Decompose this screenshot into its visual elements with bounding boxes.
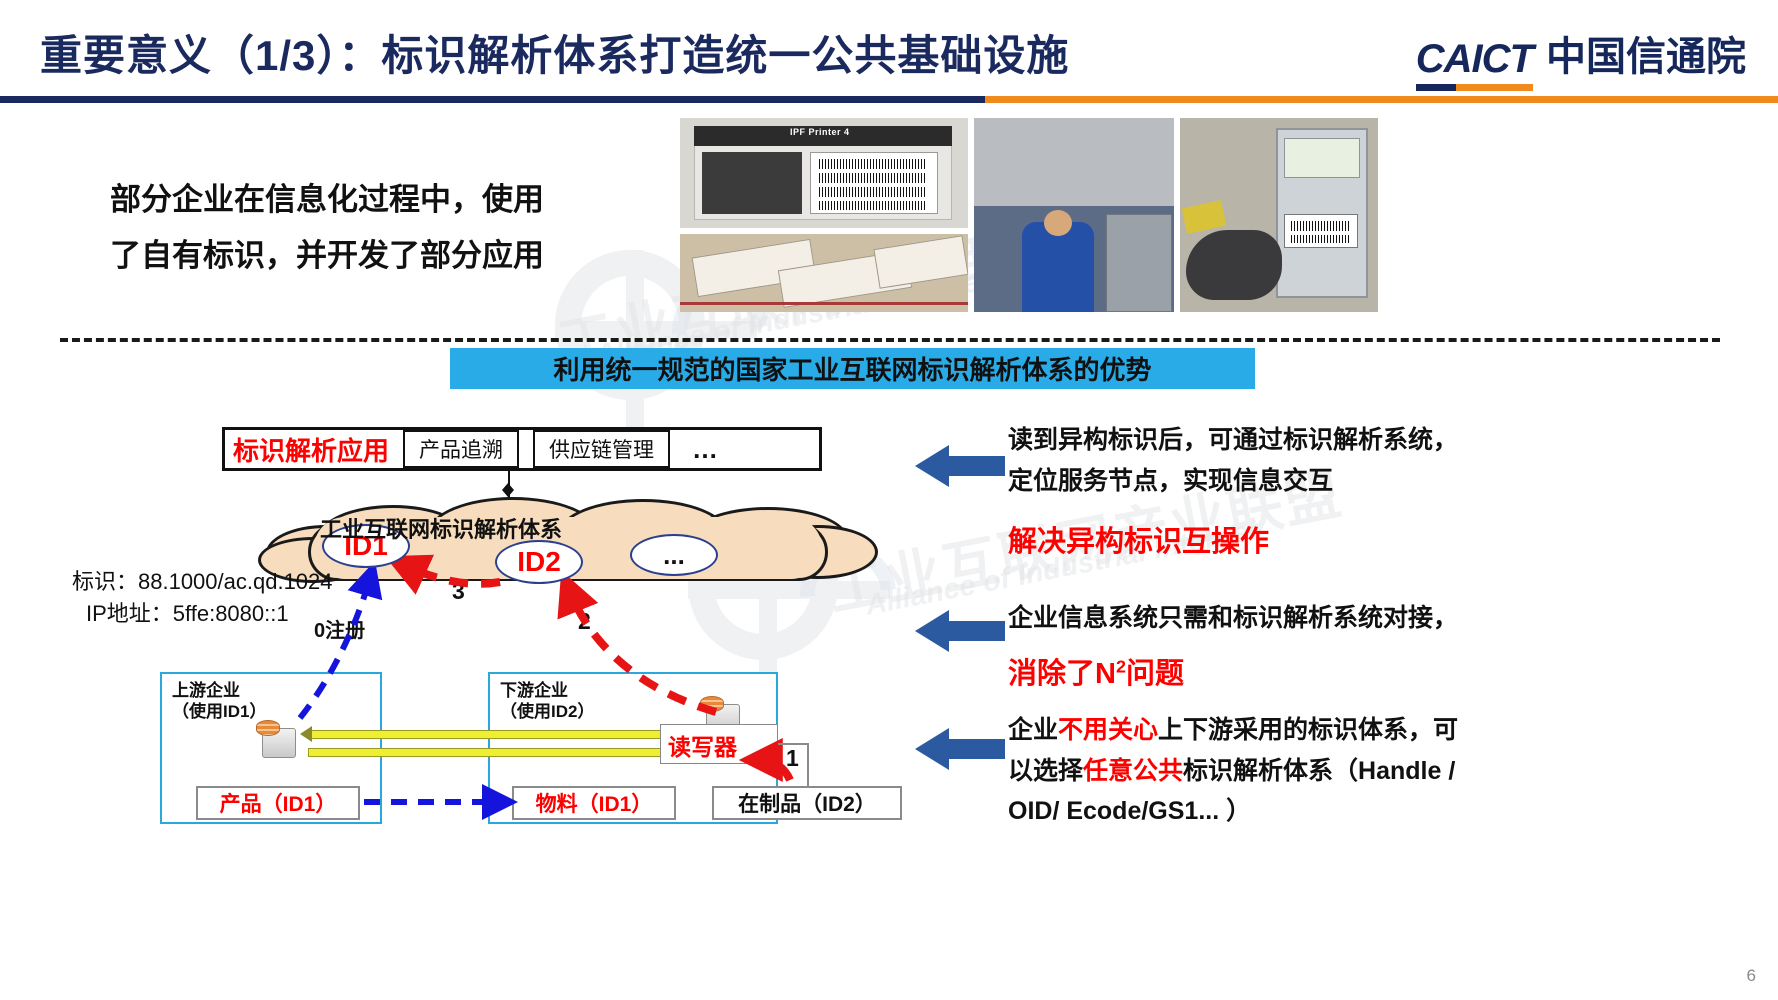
app-chip-ellipsis: … bbox=[692, 434, 718, 465]
callout-1-line-2: 定位服务节点，实现信息交互 bbox=[1008, 461, 1508, 502]
callout-5-line-3: OID/ Ecode/GS1... ） bbox=[1008, 791, 1528, 832]
upstream-company-line-2: （使用ID1） bbox=[172, 701, 266, 722]
app-chip-supply-chain[interactable]: 供应链管理 bbox=[533, 430, 670, 468]
callout-5-line-2: 以选择任意公共标识解析体系（Handle / bbox=[1008, 751, 1528, 792]
conveyor-belt bbox=[974, 118, 1174, 206]
cabinet-screen bbox=[1284, 138, 1360, 178]
callout-arrow-3-icon bbox=[915, 728, 1005, 770]
page-number: 6 bbox=[1747, 966, 1756, 986]
downstream-company-line-2: （使用ID2） bbox=[500, 701, 594, 722]
caict-chinese-name: 中国信通院 bbox=[1546, 24, 1746, 91]
callout-5-red-1: 不用关心 bbox=[1058, 716, 1158, 744]
callout-text-4-highlight: 消除了N2问题 bbox=[1008, 650, 1528, 692]
callout-1-line-1: 读到异构标识后，可通过标识解析系统， bbox=[1008, 420, 1508, 461]
chip-material-id1[interactable]: 物料（ID1） bbox=[512, 786, 676, 820]
callout-5-b: 上下游采用的标识体系，可 bbox=[1158, 716, 1458, 744]
step-label-1: 1 bbox=[786, 745, 799, 772]
cabinet-barcode-tag bbox=[1284, 214, 1358, 248]
data-pipe-outbound bbox=[308, 748, 666, 757]
header-rule-orange bbox=[985, 96, 1778, 103]
callout-4-superscript: 2 bbox=[1116, 656, 1126, 676]
upstream-server-icon bbox=[256, 716, 300, 760]
chip-product-id1[interactable]: 产品（ID1） bbox=[196, 786, 360, 820]
step-label-3: 3 bbox=[452, 578, 465, 605]
caict-logo: CAICT 中国信通院 bbox=[1416, 24, 1746, 91]
conveyor-machine bbox=[1106, 214, 1172, 312]
callout-5-d: 标识解析体系（Handle / bbox=[1183, 757, 1455, 785]
cloud-label: 工业互联网标识解析体系 bbox=[320, 512, 562, 544]
register-step-label: 0注册 bbox=[314, 614, 365, 643]
step-label-2: 2 bbox=[578, 608, 591, 635]
callout-5-a: 企业 bbox=[1008, 716, 1058, 744]
downstream-company-line-1: 下游企业 bbox=[500, 680, 594, 701]
callout-4-pre: 消除了N bbox=[1008, 658, 1116, 690]
worker-head bbox=[1044, 210, 1072, 236]
callout-5-red-2: 任意公共 bbox=[1083, 757, 1183, 785]
callout-5-line-1: 企业不用关心上下游采用的标识体系，可 bbox=[1008, 710, 1528, 751]
callout-text-1: 读到异构标识后，可通过标识解析系统， 定位服务节点，实现信息交互 bbox=[1008, 420, 1508, 501]
data-pipe-inbound bbox=[308, 730, 706, 739]
caict-underline-bar bbox=[1416, 84, 1533, 91]
application-layer-bar: 标识解析应用 产品追溯 供应链管理 … bbox=[222, 427, 822, 471]
caict-letters: CAICT bbox=[1416, 37, 1533, 82]
cloud-node-more: ... bbox=[630, 534, 718, 576]
identifier-line: 标识：88.1000/ac.qd.1024 bbox=[72, 566, 333, 598]
callout-4-post: 问题 bbox=[1126, 658, 1184, 690]
callout-arrow-2-icon bbox=[915, 610, 1005, 652]
callout-text-3: 企业信息系统只需和标识解析系统对接， bbox=[1008, 598, 1528, 639]
chip-wip-id2[interactable]: 在制品（ID2） bbox=[712, 786, 902, 820]
reader-label: 读写器 bbox=[668, 728, 737, 762]
cabinet-photo bbox=[1180, 118, 1378, 312]
architecture-diagram: 标识解析应用 产品追溯 供应链管理 … 工业互联网标识解析体系 ID1 ID2 … bbox=[0, 0, 1000, 1000]
callout-text-2-highlight: 解决异构标识互操作 bbox=[1008, 518, 1508, 560]
app-chip-traceability[interactable]: 产品追溯 bbox=[403, 430, 519, 468]
identifier-info: 标识：88.1000/ac.qd.1024 IP地址：5ffe:8080::1 bbox=[72, 566, 333, 630]
cabinet-dark-object bbox=[1186, 230, 1282, 300]
ip-address-line: IP地址：5ffe:8080::1 bbox=[86, 598, 333, 630]
downstream-company-label: 下游企业 （使用ID2） bbox=[500, 680, 594, 723]
callout-5-c: 以选择 bbox=[1008, 757, 1083, 785]
conveyor-photo bbox=[974, 118, 1174, 312]
cloud-node-id2[interactable]: ID2 bbox=[495, 540, 583, 584]
upstream-company-label: 上游企业 （使用ID1） bbox=[172, 680, 266, 723]
app-to-cloud-diamond-icon bbox=[502, 483, 514, 497]
application-layer-title: 标识解析应用 bbox=[233, 431, 389, 468]
callout-text-5: 企业不用关心上下游采用的标识体系，可 以选择任意公共标识解析体系（Handle … bbox=[1008, 710, 1528, 832]
upstream-company-line-1: 上游企业 bbox=[172, 680, 266, 701]
callout-arrow-1-icon bbox=[915, 445, 1005, 487]
caict-wordmark: CAICT bbox=[1416, 37, 1533, 91]
